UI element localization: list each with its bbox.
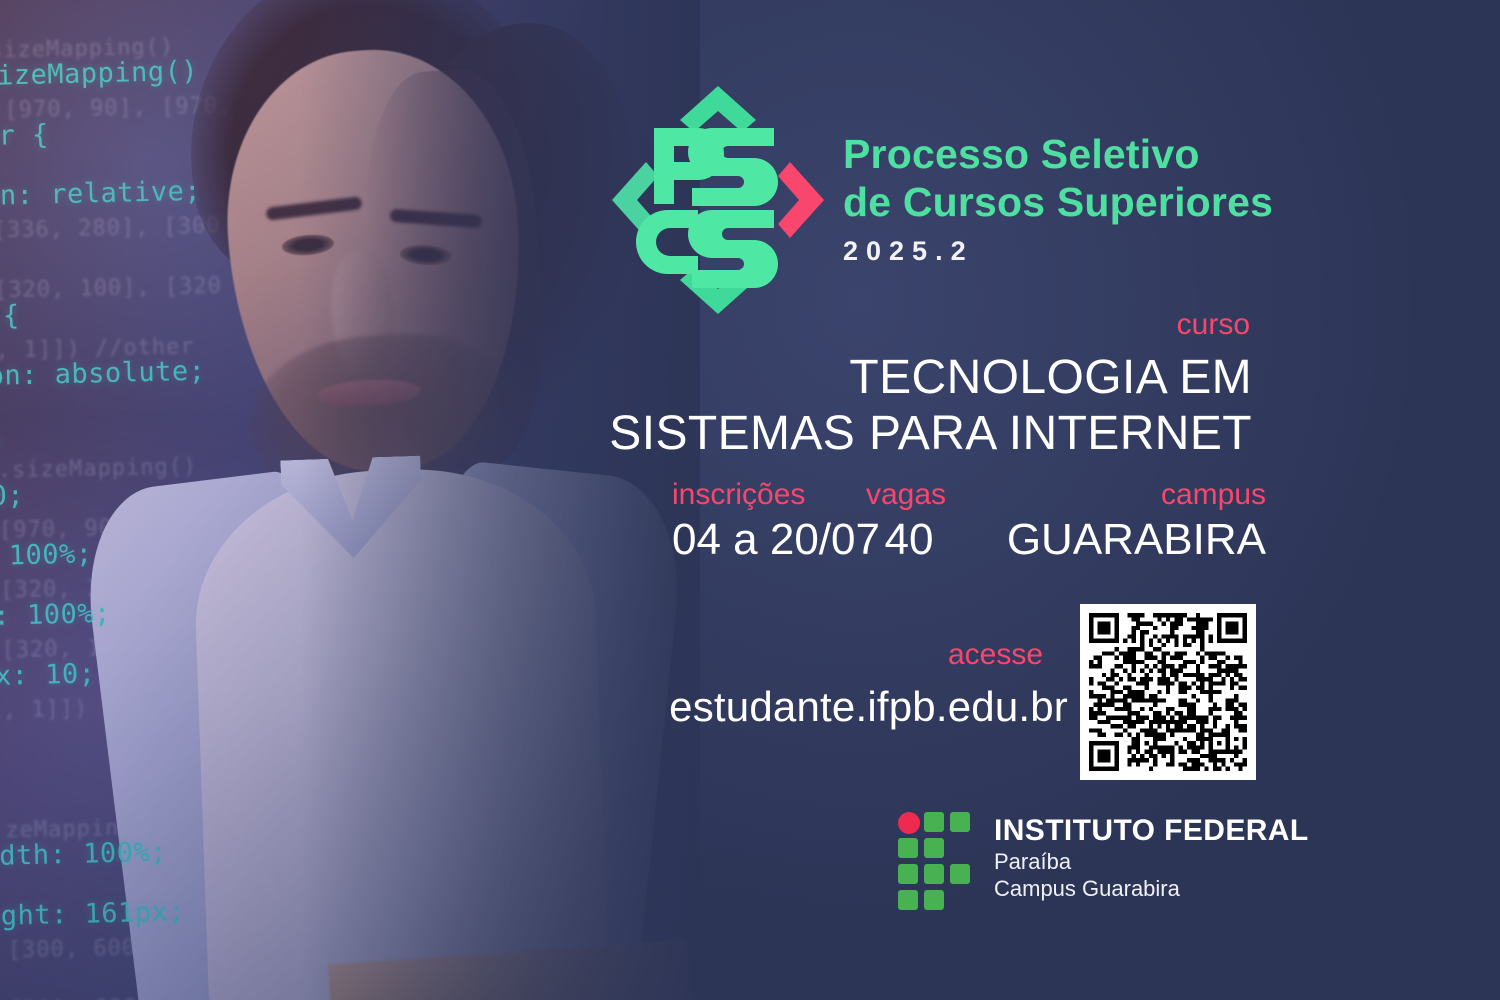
course-name: TECNOLOGIA EM SISTEMAS PARA INTERNET (352, 350, 1252, 462)
institution-logo: INSTITUTO FEDERAL Paraíba Campus Guarabi… (898, 812, 1258, 916)
course-name-line1: TECNOLOGIA EM (352, 350, 1252, 406)
if-logo-square (950, 864, 970, 884)
vagas-label: vagas (866, 478, 952, 512)
access-label: acesse (948, 638, 1043, 671)
info-vagas: vagas 40 (866, 478, 952, 566)
qr-code[interactable] (1080, 604, 1256, 780)
if-logo-grid-icon (898, 812, 976, 912)
institution-campus: Campus Guarabira (994, 875, 1309, 902)
institution-state: Paraíba (994, 848, 1309, 875)
brand-title-block: Processo Seletivo de Cursos Superiores 2… (843, 130, 1273, 267)
brand-title-line1: Processo Seletivo (843, 130, 1273, 178)
chevron-right-icon (778, 162, 824, 238)
chevron-top-icon (680, 86, 756, 132)
poster-content: Processo Seletivo de Cursos Superiores 2… (0, 0, 1500, 1000)
if-logo-dot-icon (898, 812, 920, 834)
if-logo-square (924, 838, 944, 858)
brand-title-line2: de Cursos Superiores (843, 178, 1273, 226)
if-logo-square (898, 890, 918, 910)
campus-value: GUARABIRA (966, 514, 1266, 566)
inscricoes-label: inscrições (672, 478, 880, 512)
if-logo-square (898, 864, 918, 884)
if-logo-square (950, 812, 970, 832)
course-name-line2: SISTEMAS PARA INTERNET (352, 406, 1252, 462)
if-logo-square (924, 864, 944, 884)
if-logo-square (924, 890, 944, 910)
brand-year: 2025.2 (843, 236, 1273, 267)
if-logo-square (898, 838, 918, 858)
poster-root: g.sizeMapping() ], [970, 90], [970, , [3… (0, 0, 1500, 1000)
institution-name: INSTITUTO FEDERAL (994, 814, 1309, 848)
website-url[interactable]: estudante.ifpb.edu.br (598, 682, 1068, 732)
pscs-letters (636, 128, 778, 288)
campus-label: campus (966, 478, 1266, 512)
vagas-value: 40 (866, 514, 952, 566)
institution-text: INSTITUTO FEDERAL Paraíba Campus Guarabi… (994, 814, 1309, 902)
course-label-wrap: curso (1177, 308, 1250, 342)
course-label: curso (1177, 308, 1250, 341)
access-label-wrap: acesse (948, 638, 1043, 672)
inscricoes-value: 04 a 20/07 (672, 514, 880, 566)
info-inscricoes: inscrições 04 a 20/07 (672, 478, 880, 566)
if-logo-square (924, 812, 944, 832)
info-campus: campus GUARABIRA (966, 478, 1266, 566)
pscs-logo-mark (602, 82, 834, 318)
qr-code-canvas (1089, 613, 1247, 771)
